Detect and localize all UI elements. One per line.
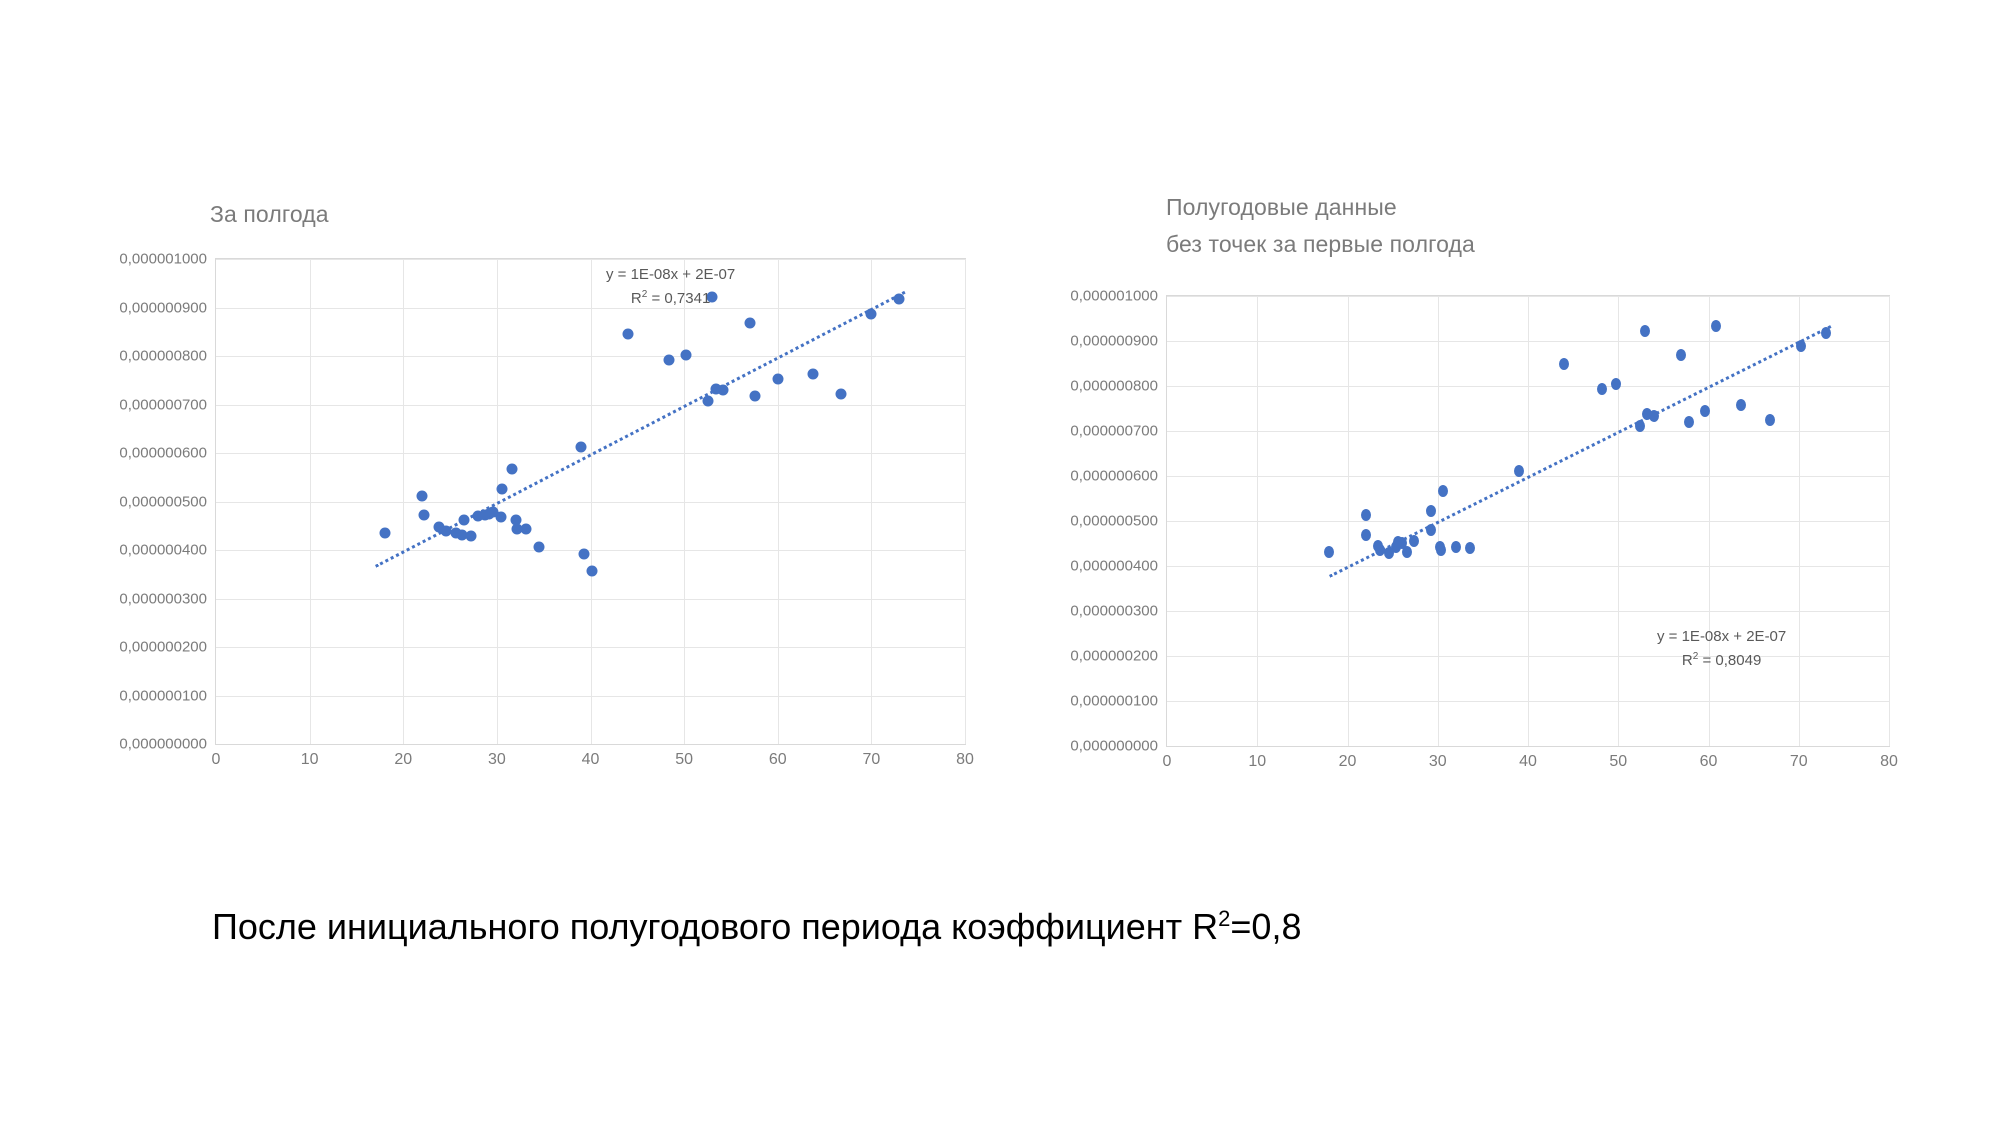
y-axis-tick-label: 0,000000300 bbox=[119, 590, 207, 607]
gridline-vertical bbox=[1348, 296, 1349, 746]
r-squared-line: R2 = 0,8049 bbox=[1657, 647, 1786, 671]
data-point[interactable] bbox=[520, 524, 531, 535]
data-point[interactable] bbox=[379, 528, 390, 539]
y-axis-tick-label: 0,000000200 bbox=[1070, 648, 1158, 665]
data-point[interactable] bbox=[495, 512, 506, 523]
chart-right-plot-area: 0,0000000000,0000001000,0000002000,00000… bbox=[1166, 295, 1890, 747]
x-axis-tick-label: 80 bbox=[956, 751, 974, 769]
x-axis-tick-label: 20 bbox=[394, 751, 412, 769]
y-axis-tick-label: 0,000000600 bbox=[119, 445, 207, 462]
y-axis-tick-label: 0,000000000 bbox=[1070, 738, 1158, 755]
data-point[interactable] bbox=[1451, 541, 1461, 553]
x-axis-tick-label: 60 bbox=[769, 751, 787, 769]
y-axis-tick-label: 0,000000900 bbox=[1070, 333, 1158, 350]
data-point[interactable] bbox=[894, 293, 905, 304]
data-point[interactable] bbox=[497, 484, 508, 495]
data-point[interactable] bbox=[750, 390, 761, 401]
data-point[interactable] bbox=[1361, 529, 1371, 541]
x-axis-tick-label: 40 bbox=[1519, 753, 1537, 771]
x-axis-tick-label: 30 bbox=[1429, 753, 1447, 771]
data-point[interactable] bbox=[718, 385, 729, 396]
y-axis-tick-label: 0,000000700 bbox=[1070, 423, 1158, 440]
data-point[interactable] bbox=[576, 441, 587, 452]
data-point[interactable] bbox=[1635, 420, 1645, 432]
y-axis-tick-label: 0,000000900 bbox=[119, 299, 207, 316]
equation-line: y = 1E-08x + 2E-07 bbox=[1657, 627, 1786, 647]
y-axis-tick-label: 0,000000800 bbox=[119, 348, 207, 365]
data-point[interactable] bbox=[1559, 358, 1569, 370]
x-axis-tick-label: 40 bbox=[582, 751, 600, 769]
data-point[interactable] bbox=[1426, 524, 1436, 536]
data-point[interactable] bbox=[1436, 544, 1446, 556]
y-axis-tick-label: 0,000000400 bbox=[119, 542, 207, 559]
y-axis-tick-label: 0,000000500 bbox=[1070, 513, 1158, 530]
y-axis-tick-label: 0,000000100 bbox=[119, 687, 207, 704]
data-point[interactable] bbox=[1611, 378, 1621, 390]
x-axis-tick-label: 30 bbox=[488, 751, 506, 769]
chart-left[interactable]: За полгода 0,0000000000,0000001000,00000… bbox=[80, 190, 1000, 790]
y-axis-tick-label: 0,000000600 bbox=[1070, 468, 1158, 485]
data-point[interactable] bbox=[1649, 410, 1659, 422]
data-point[interactable] bbox=[587, 565, 598, 576]
data-point[interactable] bbox=[1640, 325, 1650, 337]
data-point[interactable] bbox=[1796, 340, 1806, 352]
data-point[interactable] bbox=[664, 354, 675, 365]
data-point[interactable] bbox=[1514, 465, 1524, 477]
x-axis-tick-label: 20 bbox=[1339, 753, 1357, 771]
data-point[interactable] bbox=[506, 464, 517, 475]
x-axis-tick-label: 50 bbox=[675, 751, 693, 769]
y-axis-tick-label: 0,000001000 bbox=[1070, 288, 1158, 305]
y-axis-tick-label: 0,000001000 bbox=[119, 251, 207, 268]
data-point[interactable] bbox=[418, 510, 429, 521]
caption-prefix: После инициального полугодового периода … bbox=[212, 906, 1218, 947]
x-axis-tick-label: 10 bbox=[301, 751, 319, 769]
data-point[interactable] bbox=[622, 328, 633, 339]
gridline-vertical bbox=[965, 259, 966, 744]
gridline-vertical bbox=[403, 259, 404, 744]
chart-left-title: За полгода bbox=[210, 196, 329, 233]
data-point[interactable] bbox=[772, 374, 783, 385]
x-axis-tick-label: 0 bbox=[1163, 753, 1172, 771]
data-point[interactable] bbox=[744, 318, 755, 329]
data-point[interactable] bbox=[1409, 535, 1419, 547]
trendline[interactable] bbox=[375, 291, 905, 568]
gridline-vertical bbox=[1257, 296, 1258, 746]
data-point[interactable] bbox=[1465, 542, 1475, 554]
gridline-vertical bbox=[1618, 296, 1619, 746]
caption-superscript: 2 bbox=[1218, 906, 1230, 931]
x-axis-tick-label: 80 bbox=[1880, 753, 1898, 771]
data-point[interactable] bbox=[1324, 546, 1334, 558]
y-axis-tick-label: 0,000000800 bbox=[1070, 378, 1158, 395]
gridline-vertical bbox=[778, 259, 779, 744]
data-point[interactable] bbox=[866, 309, 877, 320]
gridline-vertical bbox=[1709, 296, 1710, 746]
data-point[interactable] bbox=[1597, 383, 1607, 395]
y-axis-tick-label: 0,000000700 bbox=[119, 396, 207, 413]
data-point[interactable] bbox=[808, 369, 819, 380]
data-point[interactable] bbox=[1438, 485, 1448, 497]
data-point[interactable] bbox=[1684, 416, 1694, 428]
y-axis-tick-label: 0,000000400 bbox=[1070, 558, 1158, 575]
data-point[interactable] bbox=[1426, 505, 1436, 517]
data-point[interactable] bbox=[1711, 320, 1721, 332]
data-point[interactable] bbox=[465, 531, 476, 542]
data-point[interactable] bbox=[1821, 327, 1831, 339]
data-point[interactable] bbox=[1765, 414, 1775, 426]
x-axis-tick-label: 0 bbox=[212, 751, 221, 769]
x-axis-tick-label: 70 bbox=[1790, 753, 1808, 771]
data-point[interactable] bbox=[1402, 546, 1412, 558]
data-point[interactable] bbox=[459, 514, 470, 525]
data-point[interactable] bbox=[1736, 399, 1746, 411]
data-point[interactable] bbox=[578, 548, 589, 559]
y-axis-tick-label: 0,000000000 bbox=[119, 736, 207, 753]
gridline-vertical bbox=[684, 259, 685, 744]
data-point[interactable] bbox=[1361, 509, 1371, 521]
x-axis-tick-label: 50 bbox=[1609, 753, 1627, 771]
chart-right[interactable]: Полугодовые данные без точек за первые п… bbox=[1035, 190, 1915, 790]
data-point[interactable] bbox=[534, 542, 545, 553]
gridline-vertical bbox=[1799, 296, 1800, 746]
data-point[interactable] bbox=[836, 388, 847, 399]
x-axis-tick-label: 70 bbox=[862, 751, 880, 769]
x-axis-tick-label: 60 bbox=[1700, 753, 1718, 771]
slide-canvas: За полгода 0,0000000000,0000001000,00000… bbox=[0, 0, 2000, 1125]
gridline-vertical bbox=[1528, 296, 1529, 746]
data-point[interactable] bbox=[703, 395, 714, 406]
y-axis-tick-label: 0,000000100 bbox=[1070, 693, 1158, 710]
x-axis-tick-label: 10 bbox=[1248, 753, 1266, 771]
data-point[interactable] bbox=[416, 490, 427, 501]
gridline-vertical bbox=[591, 259, 592, 744]
trendline-equation-label: y = 1E-08x + 2E-07R2 = 0,8049 bbox=[1657, 627, 1786, 671]
r-squared-line: R2 = 0,7341 bbox=[606, 285, 735, 309]
gridline-vertical bbox=[310, 259, 311, 744]
equation-line: y = 1E-08x + 2E-07 bbox=[606, 265, 735, 285]
chart-right-title: Полугодовые данные без точек за первые п… bbox=[1166, 189, 1475, 263]
gridline-vertical bbox=[1889, 296, 1890, 746]
caption-suffix: =0,8 bbox=[1230, 906, 1301, 947]
y-axis-tick-label: 0,000000200 bbox=[119, 639, 207, 656]
chart-left-plot-area: 0,0000000000,0000001000,0000002000,00000… bbox=[215, 258, 966, 745]
data-point[interactable] bbox=[1676, 349, 1686, 361]
gridline-vertical bbox=[871, 259, 872, 744]
slide-caption: После инициального полугодового периода … bbox=[212, 897, 1301, 949]
data-point[interactable] bbox=[1700, 405, 1710, 417]
trendline-equation-label: y = 1E-08x + 2E-07R2 = 0,7341 bbox=[606, 265, 735, 309]
y-axis-tick-label: 0,000000500 bbox=[119, 493, 207, 510]
data-point[interactable] bbox=[680, 349, 691, 360]
y-axis-tick-label: 0,000000300 bbox=[1070, 603, 1158, 620]
